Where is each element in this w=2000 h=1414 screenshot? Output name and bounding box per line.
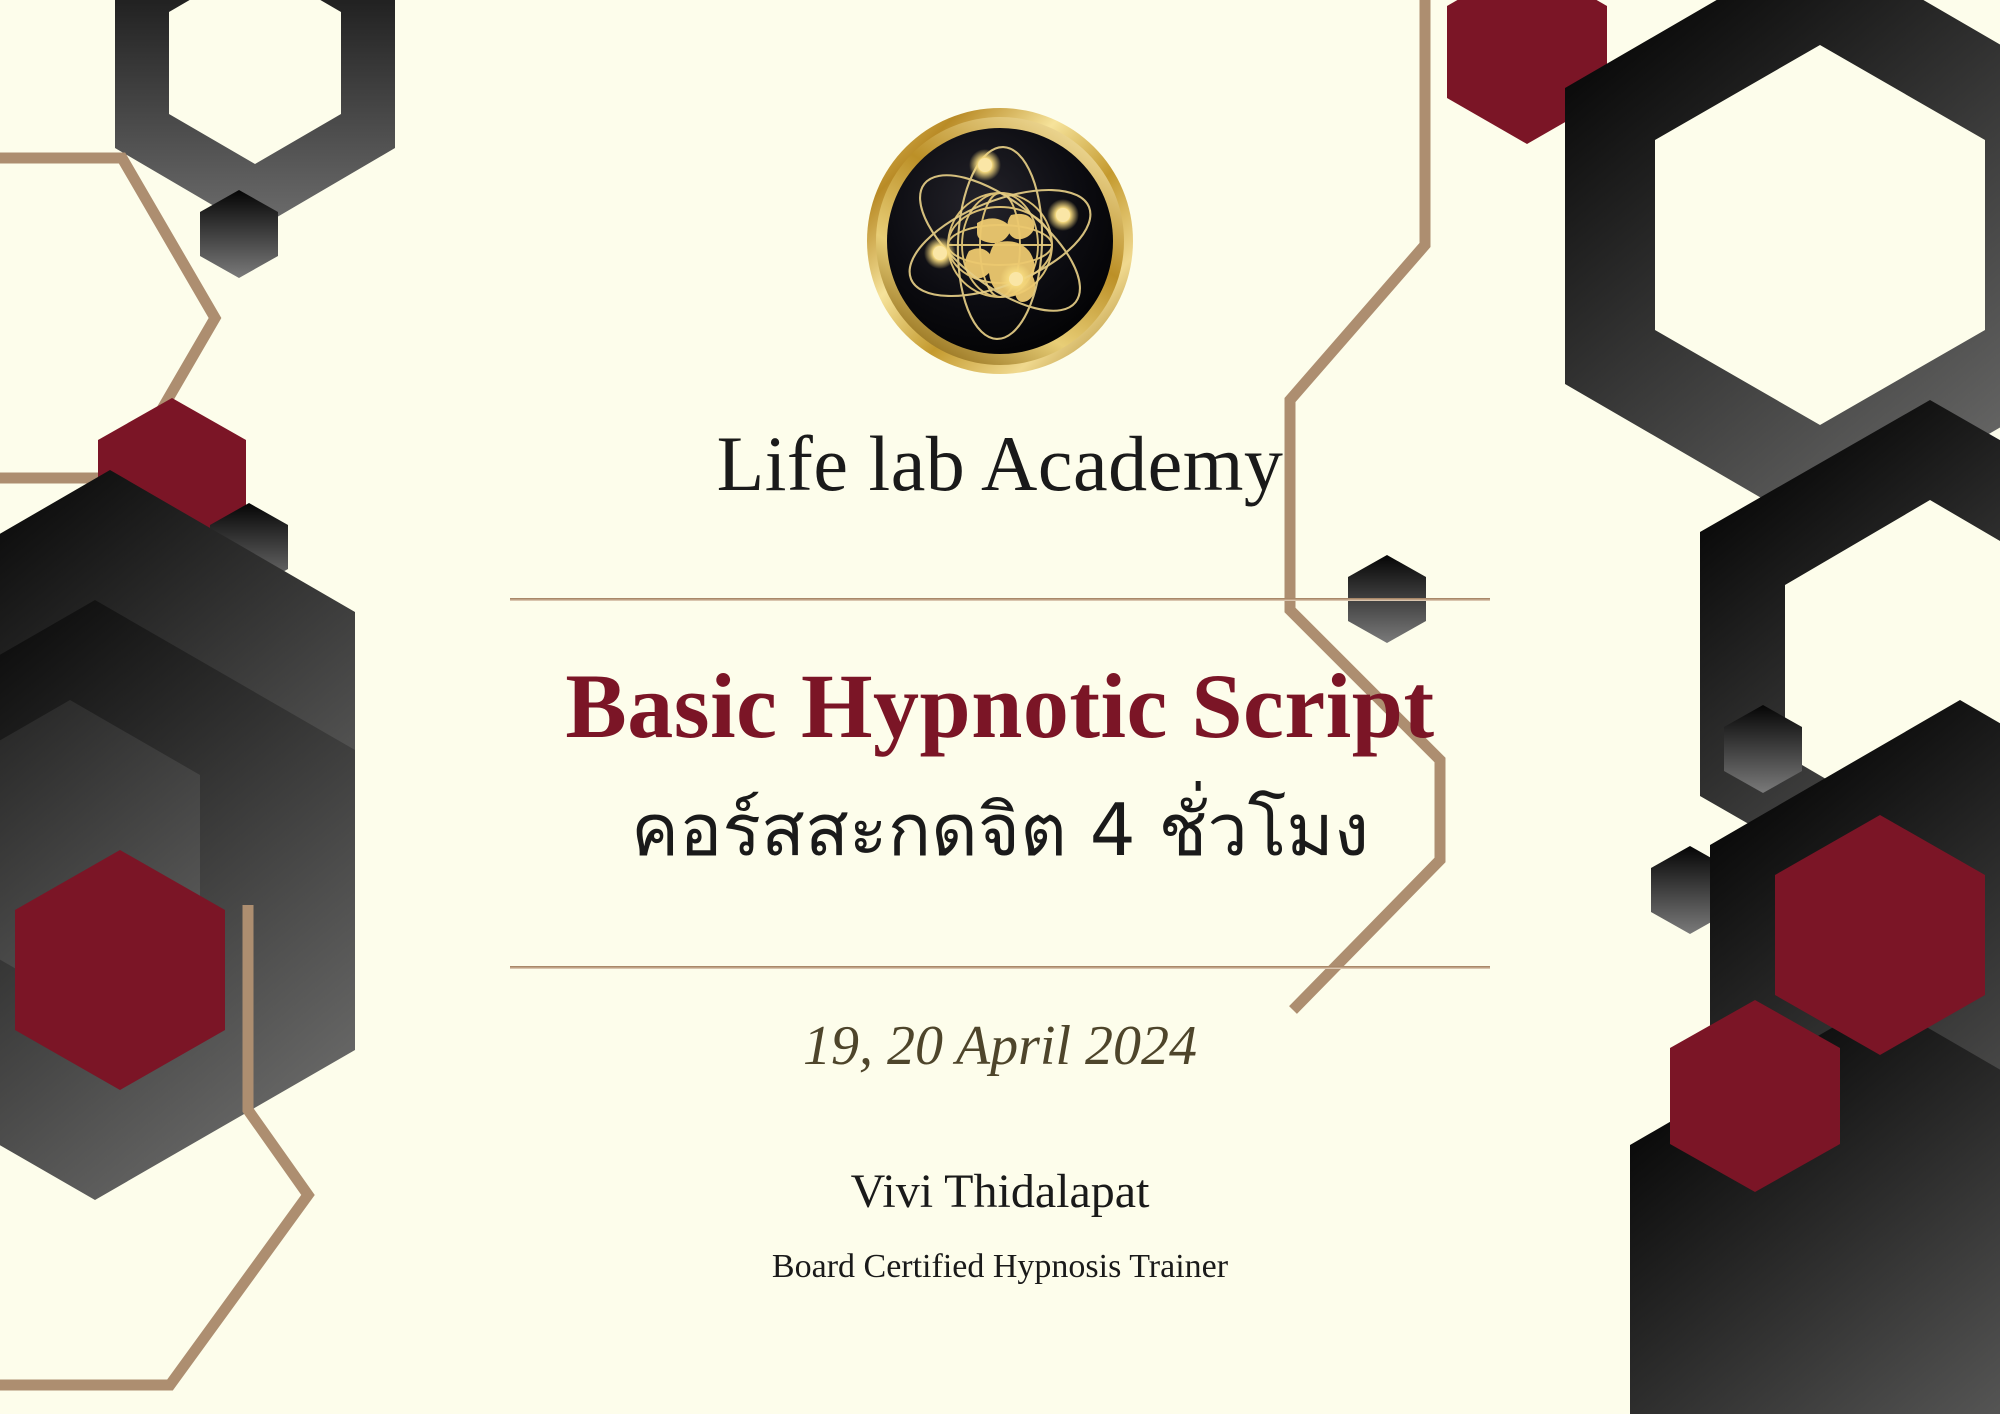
divider-top [510,598,1490,601]
presentation-slide: Life lab Academy Basic Hypnotic Script ค… [0,0,2000,1414]
slide-content: Life lab Academy Basic Hypnotic Script ค… [0,0,2000,1414]
course-title-en: Basic Hypnotic Script [0,660,2000,752]
academy-name: Life lab Academy [0,425,2000,503]
course-title-th: คอร์สสะกดจิต 4 ชั่วโมง [0,785,2000,875]
divider-bottom [510,966,1490,969]
course-date: 19, 20 April 2024 [0,1018,2000,1074]
presenter-title: Board Certified Hypnosis Trainer [0,1250,2000,1284]
globe-orbit-badge-icon [865,103,1135,378]
presenter-name: Vivi Thidalapat [0,1168,2000,1216]
academy-logo [865,103,1135,378]
